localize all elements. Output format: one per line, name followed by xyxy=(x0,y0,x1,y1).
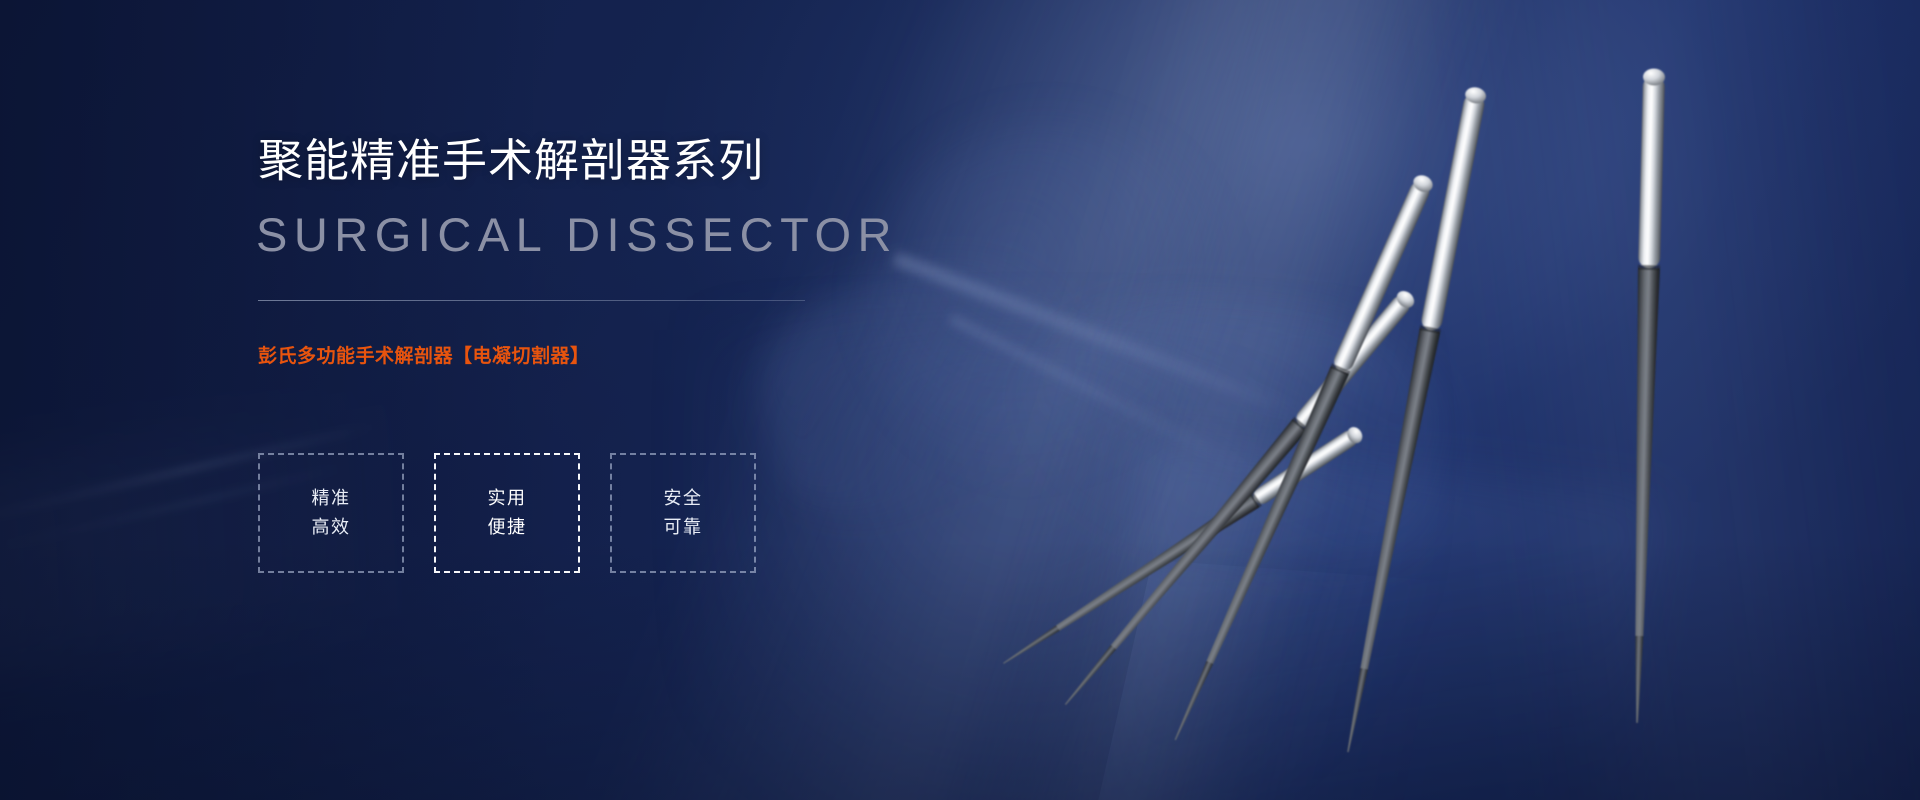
page-title-english: SURGICAL DISSECTOR xyxy=(256,206,898,264)
surgical-dissector-product-image xyxy=(0,0,1920,800)
background-vignette-bottom xyxy=(0,540,1920,800)
feature-badge-line-2: 高效 xyxy=(312,513,351,542)
background-ghost-hand-left xyxy=(735,229,1116,541)
feature-badge-line-2: 可靠 xyxy=(664,513,703,542)
feature-badge-line-1: 实用 xyxy=(488,484,527,513)
feature-badge-line-1: 安全 xyxy=(664,484,703,513)
background-light-beam-a xyxy=(575,0,1546,800)
feature-badge-list: 精准 高效 实用 便捷 安全 可靠 xyxy=(258,453,756,573)
feature-badge-line-1: 精准 xyxy=(312,484,351,513)
page-title-chinese: 聚能精准手术解剖器系列 xyxy=(258,133,764,189)
background-ghost-hand-right xyxy=(1001,269,1458,601)
background-light-beam-b xyxy=(930,0,1530,800)
background-ghost-arm xyxy=(1099,444,1661,800)
background-ghost-instrument xyxy=(892,252,1308,423)
background-vignette-left xyxy=(0,0,560,800)
background-ghost-head xyxy=(870,120,1230,480)
background-glove-fold xyxy=(1085,560,1565,800)
background-light-beam-c xyxy=(1421,0,1920,800)
feature-badge-precision[interactable]: 精准 高效 xyxy=(258,453,404,573)
feature-badge-line-2: 便捷 xyxy=(488,513,527,542)
feature-badge-safety[interactable]: 安全 可靠 xyxy=(610,453,756,573)
product-hero-banner: 聚能精准手术解剖器系列 SURGICAL DISSECTOR 彭氏多功能手术解剖… xyxy=(0,0,1920,800)
background-ghost-instrument-2 xyxy=(949,314,1292,495)
feature-badge-practical[interactable]: 实用 便捷 xyxy=(434,453,580,573)
product-subtitle: 彭氏多功能手术解剖器【电凝切割器】 xyxy=(258,344,590,370)
title-divider xyxy=(258,300,805,301)
background-ghost-body xyxy=(700,330,1420,800)
